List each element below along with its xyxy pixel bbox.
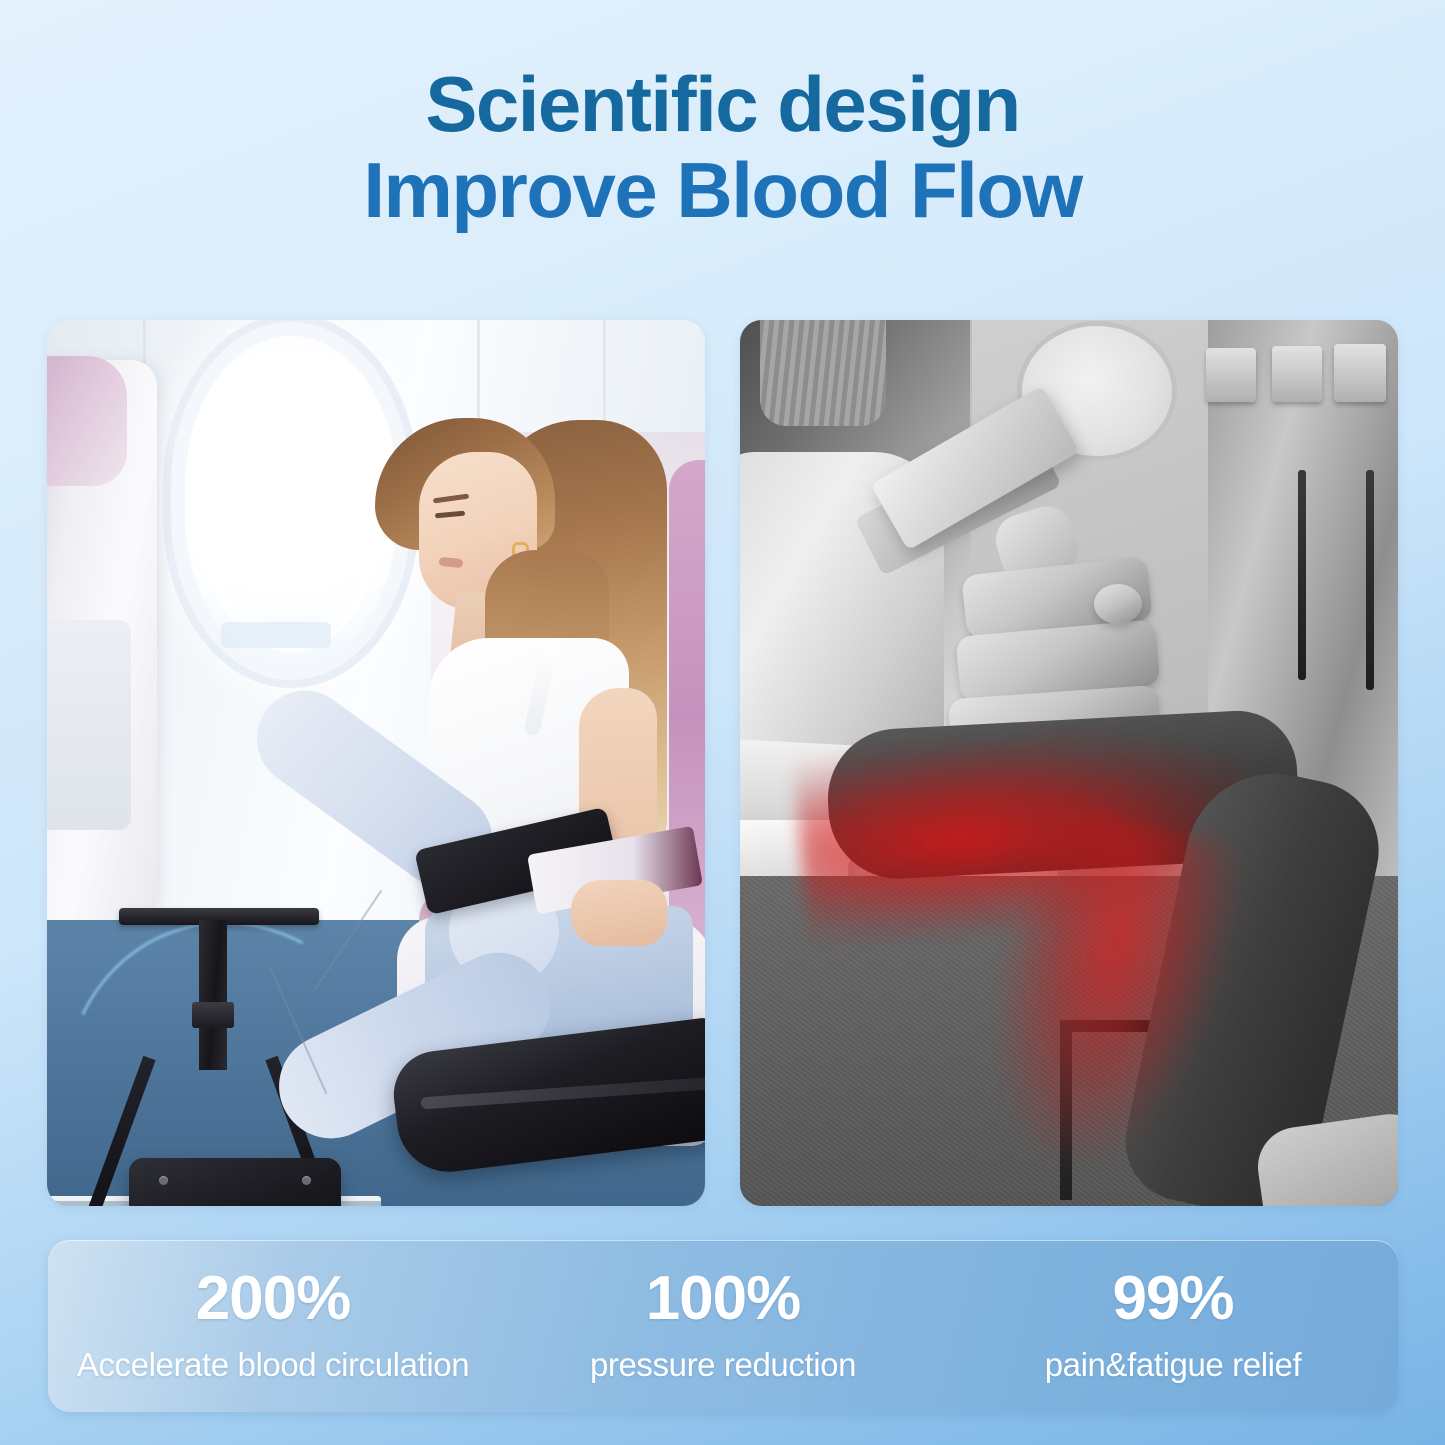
stat-item-2: 99% pain&fatigue relief (948, 1268, 1398, 1384)
front-seat-headrest (47, 356, 127, 486)
headline-line-1: Scientific design (0, 62, 1445, 148)
headrest-knob (1094, 584, 1142, 624)
stat-item-1: 100% pressure reduction (498, 1268, 948, 1384)
tray-table-1 (1334, 344, 1386, 402)
seat-back-pocket (47, 620, 131, 830)
window-pane (199, 352, 383, 652)
headline-line-2: Improve Blood Flow (0, 148, 1445, 234)
seat-frame-bar (1366, 470, 1374, 690)
rivet-icon (302, 1176, 311, 1185)
headrest-textured (760, 320, 886, 426)
stat-caption: pressure reduction (498, 1346, 948, 1384)
stat-value: 100% (498, 1268, 948, 1330)
rivet-icon (159, 1176, 168, 1185)
stat-value: 99% (948, 1268, 1398, 1330)
tray-table-2 (1272, 346, 1322, 402)
hand (571, 880, 667, 946)
seat-frame-bar (1298, 470, 1306, 680)
stats-bar: 200% Accelerate blood circulation 100% p… (48, 1240, 1398, 1412)
footrest-pad (129, 1158, 341, 1206)
stat-caption: Accelerate blood circulation (48, 1346, 498, 1384)
stat-item-0: 200% Accelerate blood circulation (48, 1268, 498, 1384)
product-feature-poster: Scientific design Improve Blood Flow (0, 0, 1445, 1445)
footrest-buckle (192, 1002, 234, 1028)
photo-right-blood-flow (740, 320, 1398, 1206)
footrest-seam (421, 1077, 705, 1109)
tray-table-3 (1206, 348, 1256, 402)
seat-trim (669, 460, 705, 980)
photo-gallery (47, 320, 1398, 1206)
stat-value: 200% (48, 1268, 498, 1330)
cabin-window (185, 336, 397, 666)
photo-left-cabin-footrest (47, 320, 705, 1206)
stat-caption: pain&fatigue relief (948, 1346, 1398, 1384)
window-shade (221, 622, 331, 648)
footrest-strap (199, 920, 227, 1070)
page-title: Scientific design Improve Blood Flow (0, 62, 1445, 234)
